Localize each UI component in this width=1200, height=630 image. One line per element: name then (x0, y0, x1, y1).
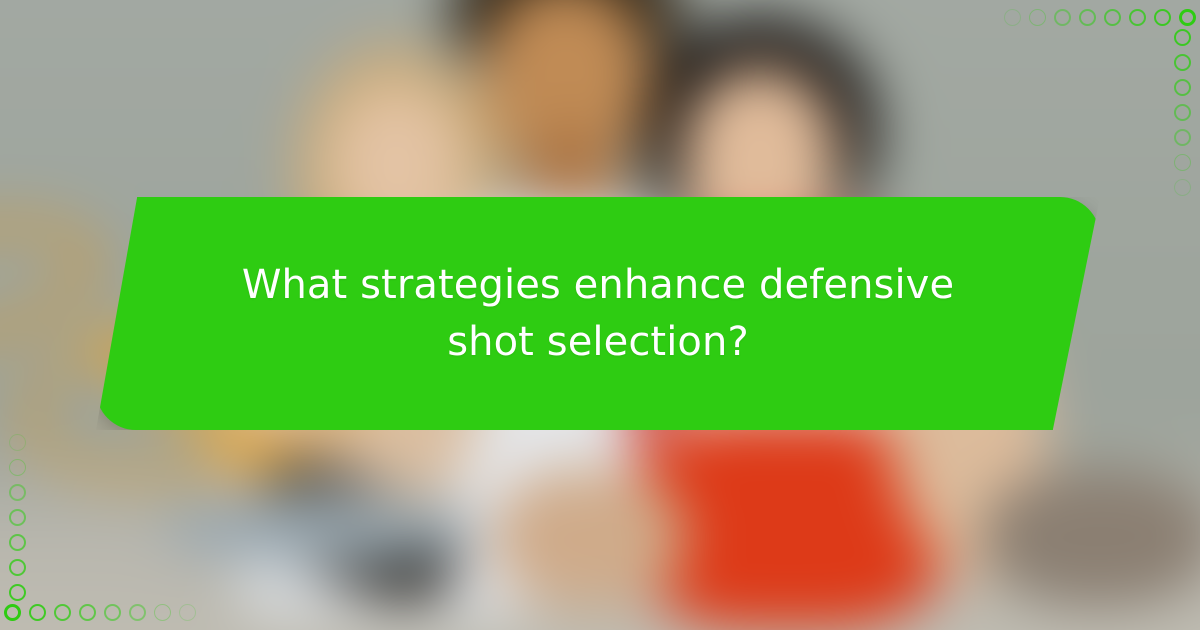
question-card: What strategies enhance defensive shot s… (96, 197, 1100, 430)
floor-highlight (165, 490, 472, 564)
social-share-card: What strategies enhance defensive shot s… (0, 0, 1200, 630)
question-text: What strategies enhance defensive shot s… (218, 257, 978, 371)
floor-shadow-right (982, 469, 1200, 607)
player-right-girl-leg (494, 469, 685, 607)
